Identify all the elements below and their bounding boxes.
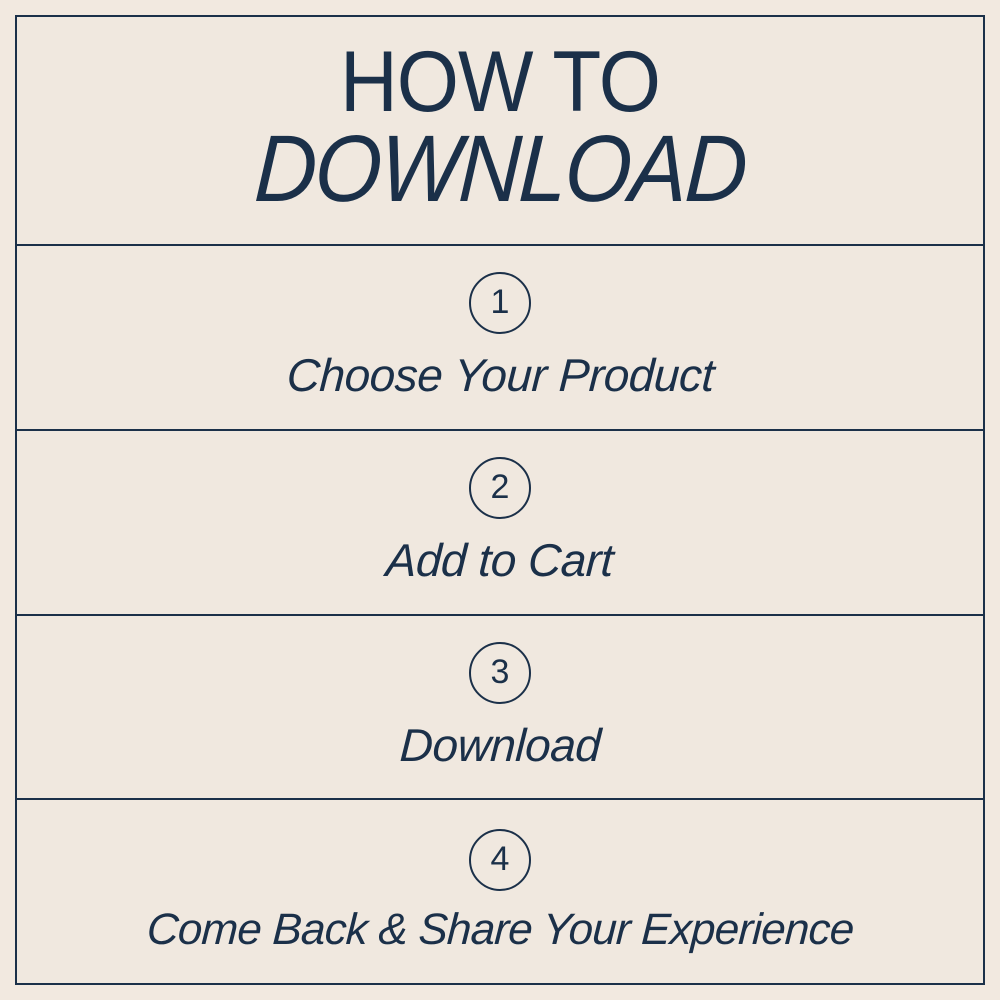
how-to-download-poster: HOW TO DOWNLOAD 1 Choose Your Product 2 … [0, 0, 1000, 1000]
step-row-1: 1 Choose Your Product [17, 246, 983, 431]
poster-frame: HOW TO DOWNLOAD 1 Choose Your Product 2 … [15, 15, 985, 985]
step-row-4: 4 Come Back & Share Your Experience [17, 800, 983, 983]
step-number-badge-3: 3 [469, 642, 531, 704]
step-label-1: Choose Your Product [285, 348, 715, 402]
page-title-line-2: DOWNLOAD [252, 121, 747, 216]
step-number-1: 1 [491, 285, 510, 319]
step-label-4: Come Back & Share Your Experience [145, 905, 854, 955]
steps-list: 1 Choose Your Product 2 Add to Cart 3 Do… [17, 246, 983, 983]
step-number-badge-1: 1 [469, 272, 531, 334]
step-number-badge-2: 2 [469, 457, 531, 519]
step-number-badge-4: 4 [469, 829, 531, 891]
step-label-2: Add to Cart [385, 533, 615, 587]
step-number-2: 2 [491, 470, 510, 504]
step-label-3: Download [398, 718, 601, 772]
step-number-3: 3 [491, 655, 510, 689]
step-row-2: 2 Add to Cart [17, 431, 983, 616]
step-number-4: 4 [491, 842, 510, 876]
page-title-line-1: HOW TO [340, 40, 660, 122]
poster-header: HOW TO DOWNLOAD [17, 17, 983, 246]
step-row-3: 3 Download [17, 616, 983, 801]
